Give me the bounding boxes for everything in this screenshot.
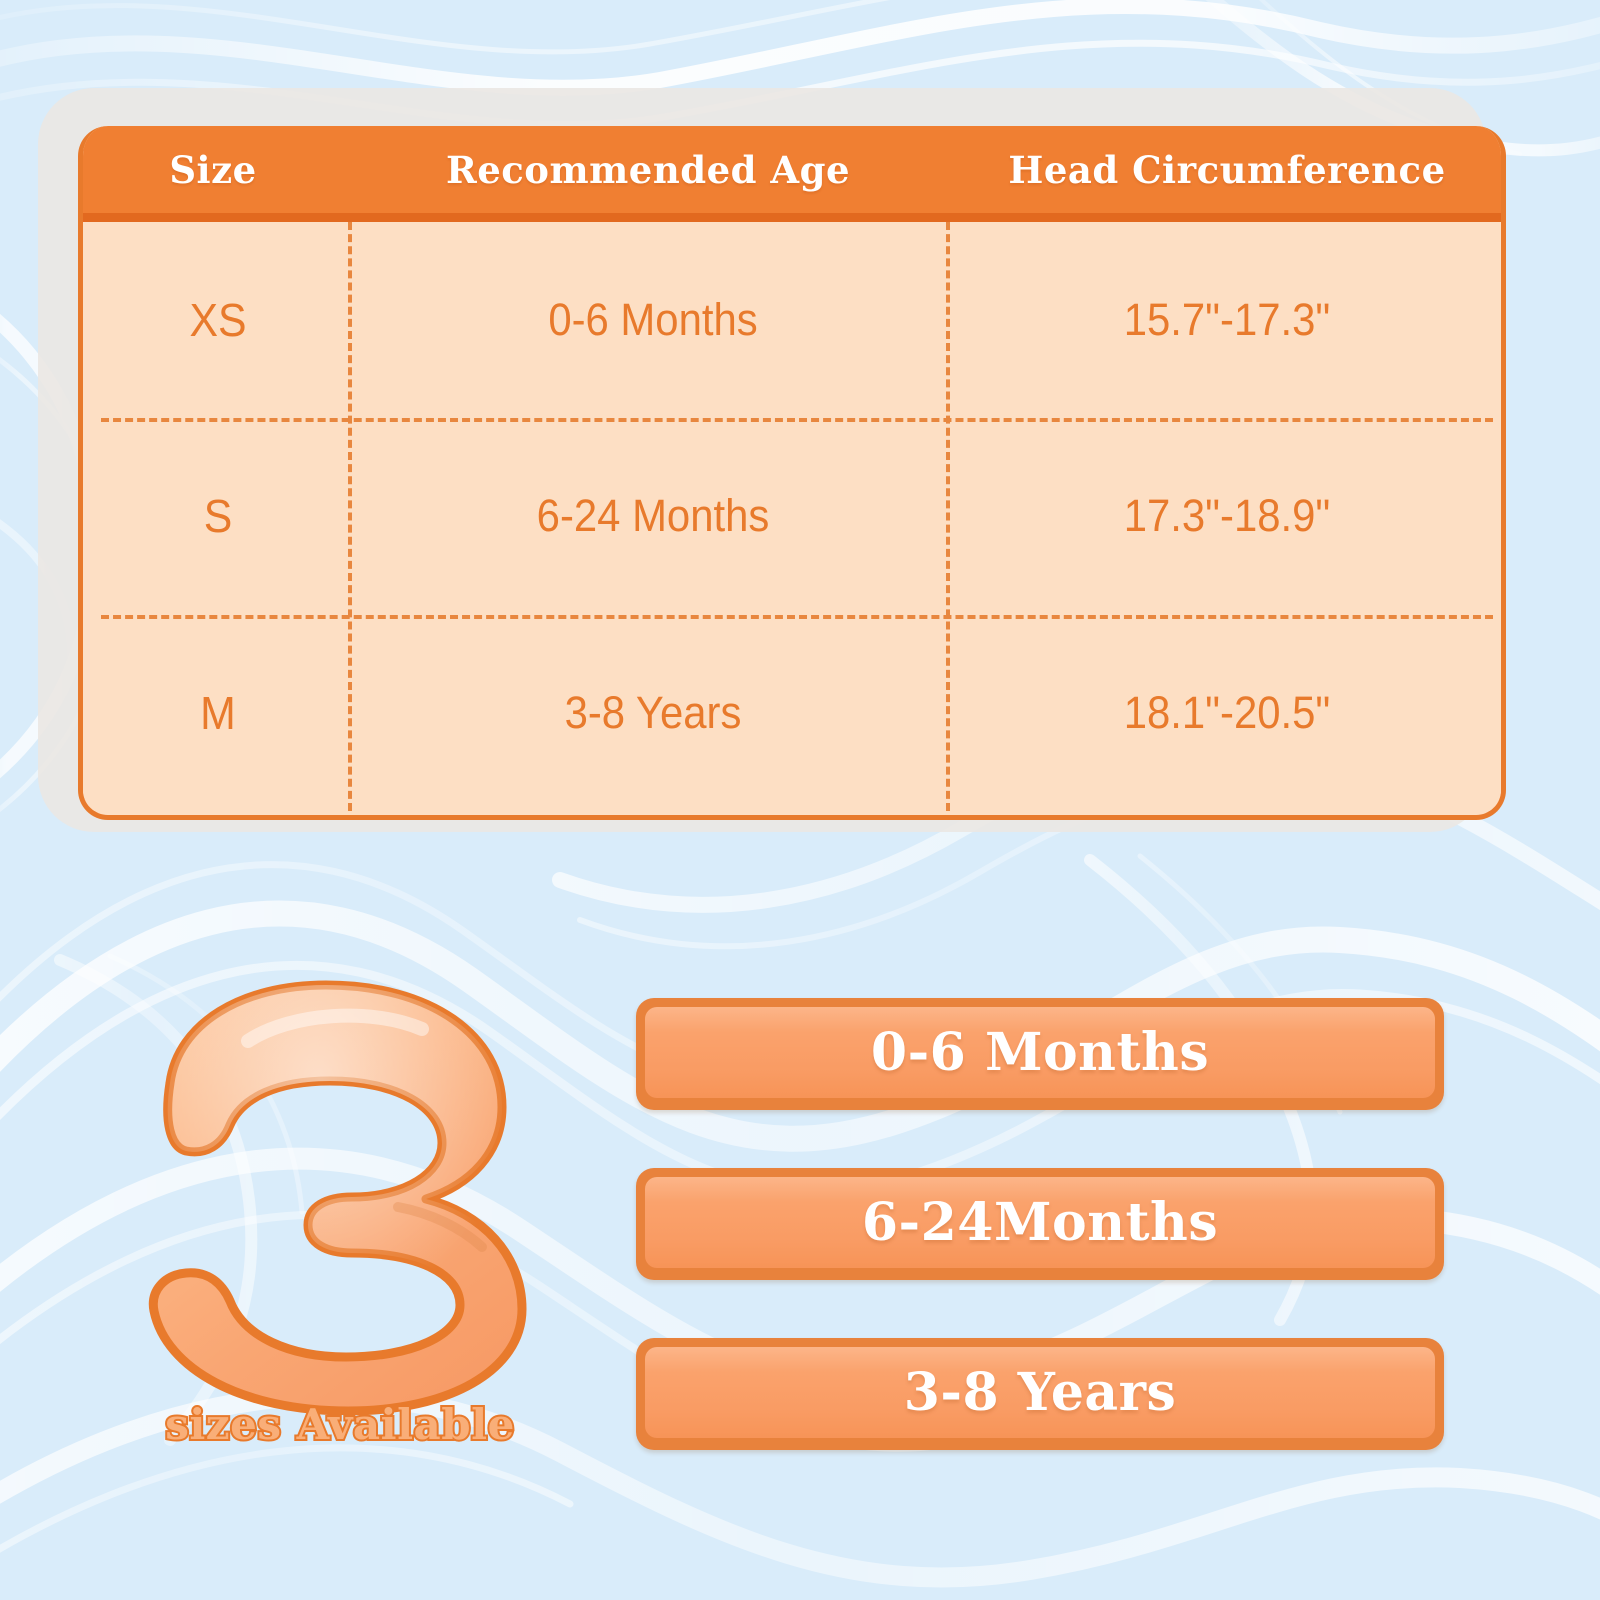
bubble-number-three-icon bbox=[130, 975, 550, 1415]
column-divider-1 bbox=[348, 222, 352, 811]
age-button-list: 0-6 Months 6-24Months 3-8 Years bbox=[636, 998, 1444, 1508]
age-button-6-24-months[interactable]: 6-24Months bbox=[636, 1168, 1444, 1280]
age-button-inner: 3-8 Years bbox=[645, 1347, 1435, 1438]
age-button-3-8-years[interactable]: 3-8 Years bbox=[636, 1338, 1444, 1450]
sizes-available-section: sizes Available 0-6 Months 6-24Months 3-… bbox=[0, 880, 1600, 1600]
cell-head-circumference: 17.3"-18.9" bbox=[972, 490, 1482, 542]
column-header-size: Size bbox=[78, 148, 348, 192]
age-button-0-6-months[interactable]: 0-6 Months bbox=[636, 998, 1444, 1110]
size-chart-section: Size Recommended Age Head Circumference … bbox=[0, 0, 1600, 880]
cell-recommended-age: 3-8 Years bbox=[374, 687, 932, 739]
size-table: Size Recommended Age Head Circumference … bbox=[78, 126, 1506, 820]
sizes-available-caption: sizes Available bbox=[130, 1400, 550, 1449]
table-body: XS 0-6 Months 15.7"-17.3" S 6-24 Months … bbox=[83, 222, 1501, 811]
cell-size: XS bbox=[92, 293, 343, 347]
age-button-label: 6-24Months bbox=[862, 1192, 1218, 1253]
big-number-graphic: sizes Available bbox=[130, 975, 550, 1465]
column-divider-2 bbox=[946, 222, 950, 811]
cell-size: S bbox=[92, 489, 343, 543]
column-header-head-circumference: Head Circumference bbox=[948, 148, 1506, 192]
cell-head-circumference: 18.1"-20.5" bbox=[972, 687, 1482, 739]
cell-recommended-age: 0-6 Months bbox=[374, 294, 932, 346]
age-button-label: 0-6 Months bbox=[871, 1022, 1209, 1083]
cell-recommended-age: 6-24 Months bbox=[374, 490, 932, 542]
age-button-inner: 0-6 Months bbox=[645, 1007, 1435, 1098]
cell-head-circumference: 15.7"-17.3" bbox=[972, 294, 1482, 346]
column-header-recommended-age: Recommended Age bbox=[348, 148, 948, 192]
table-row: XS 0-6 Months 15.7"-17.3" bbox=[83, 222, 1501, 418]
age-button-inner: 6-24Months bbox=[645, 1177, 1435, 1268]
age-button-label: 3-8 Years bbox=[904, 1362, 1177, 1423]
table-row: M 3-8 Years 18.1"-20.5" bbox=[83, 615, 1501, 811]
table-row: S 6-24 Months 17.3"-18.9" bbox=[83, 418, 1501, 614]
cell-size: M bbox=[92, 686, 343, 740]
table-header-row: Size Recommended Age Head Circumference bbox=[78, 126, 1506, 222]
